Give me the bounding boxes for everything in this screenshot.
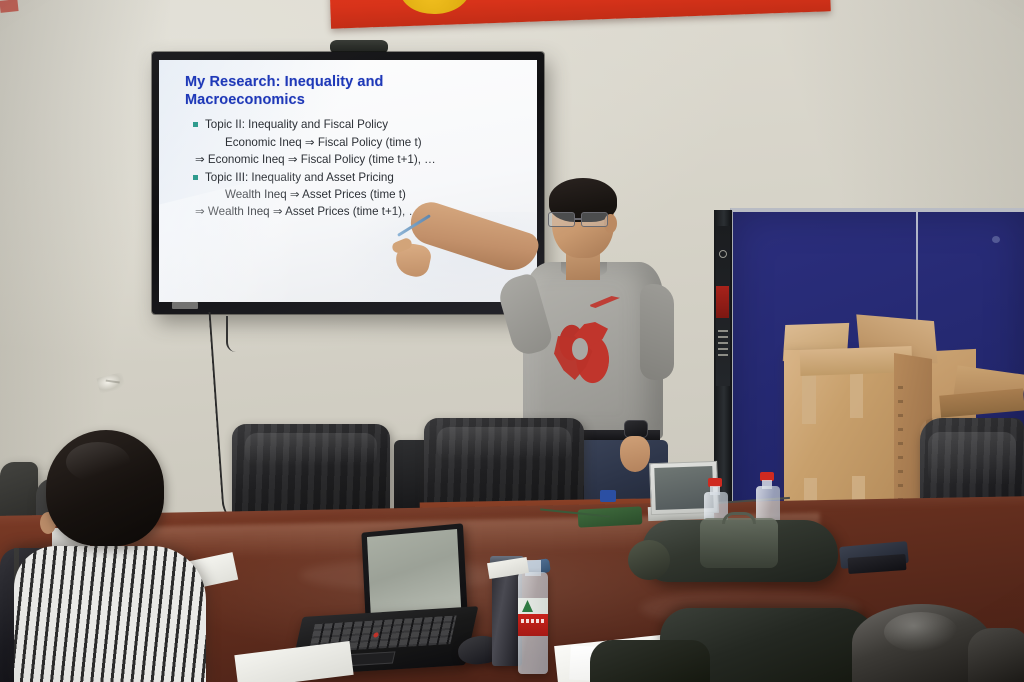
slide-sub-line: Wealth Ineq ⇒ Asset Prices (time t) [225,186,523,203]
bottle-label-green [518,598,548,614]
green-desk-mat [578,506,643,527]
notice-board-glint [992,236,1000,243]
bullet-square-icon [193,122,198,127]
grey-hair-sheen [884,612,958,652]
student-hair-sheen [66,442,130,482]
presentation-slide: My Research: Inequality and Macroeconomi… [159,60,537,302]
slide-sub-line: Economic Ineq ⇒ Fiscal Policy (time t) [225,134,523,151]
cardboard-box-perforations [898,386,903,510]
wall-mounted-tv: My Research: Inequality and Macroeconomi… [152,52,544,314]
wall-shadow-right [764,0,1024,240]
photo-scene: My Research: Inequality and Macroeconomi… [0,0,1024,682]
tv-screen: My Research: Inequality and Macroeconomi… [159,60,537,302]
chair-sheen [245,433,378,466]
duffel-strap [700,518,778,568]
slide-title: My Research: Inequality and Macroeconomi… [185,74,455,109]
slide-bullet-row: Topic II: Inequality and Fiscal Policy [193,116,523,133]
duffel-handle[interactable] [722,512,756,524]
presenter-hand-in-pocket [620,436,650,472]
tv-brand-plate [172,302,198,309]
slide-sub-line: ⇒ Economic Ineq ⇒ Fiscal Policy (time t+… [195,151,523,168]
seated-student-striped-shirt [14,546,206,682]
slide-bullet-text: Topic III: Inequality and Asset Pricing [205,169,394,186]
poster-circle-icon [719,250,727,258]
laptop-trackpad[interactable] [347,651,396,666]
slide-bullet-row: Topic III: Inequality and Asset Pricing [193,169,523,186]
poster-red-band [716,286,729,318]
black-bag-front-left[interactable] [590,640,710,682]
seated-person-dark-hair [968,628,1024,682]
bottle-label-red [518,614,548,636]
cardboard-box-red-mark [0,0,19,13]
poster-text-lines [718,330,728,356]
slide-bullet-text: Topic II: Inequality and Fiscal Policy [205,116,388,133]
chair-sheen [437,427,571,461]
bullet-square-icon [193,175,198,180]
presenter-sleeve-right [640,284,674,380]
duffel-end-cap [628,540,670,580]
cougar-logo-negative-space [572,338,588,360]
tv-power-cable-loop [226,316,236,352]
eyeglasses-icon [548,212,614,229]
chair-sheen [928,432,1015,485]
eyeglass-lens-right [581,212,608,227]
wall-shadow-left [0,0,170,470]
eyeglass-lens-left [548,212,575,227]
blue-connector [600,490,616,502]
